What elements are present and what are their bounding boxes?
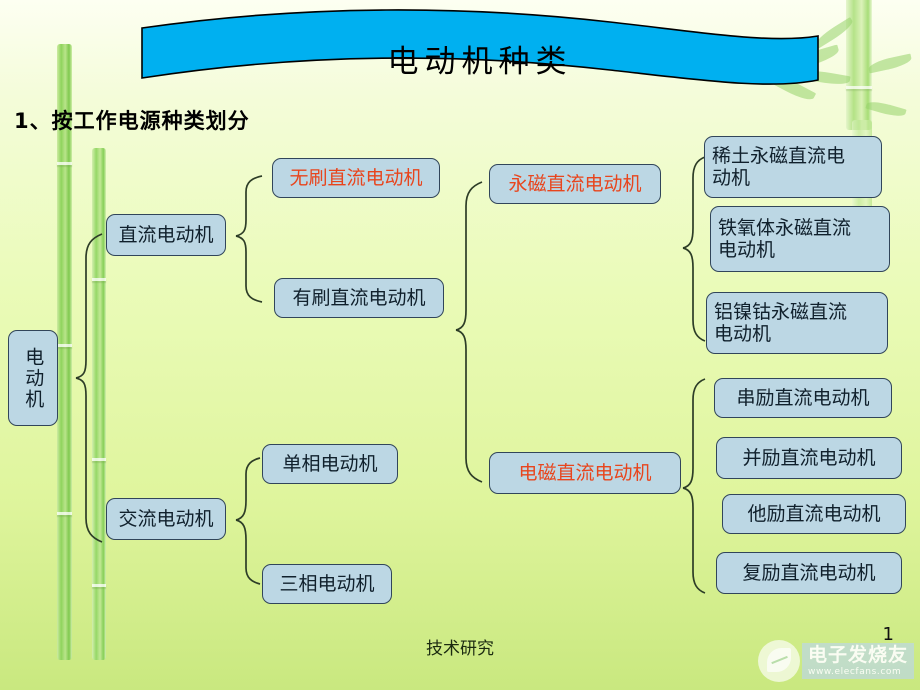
node-label: 串励直流电动机 [736, 387, 869, 409]
title-ribbon: 电动机种类 [140, 8, 820, 108]
node-separately-excited-dc-motor[interactable]: 他励直流电动机 [722, 494, 906, 534]
watermark-text: 电子发烧友 www.elecfans.com [802, 643, 914, 679]
node-label: 并励直流电动机 [742, 447, 875, 469]
node-label: 有刷直流电动机 [292, 287, 425, 309]
node-electromagnetic-dc-motor[interactable]: 电磁直流电动机 [489, 452, 681, 494]
node-label: 电磁直流电动机 [518, 462, 651, 484]
node-series-dc-motor[interactable]: 串励直流电动机 [714, 378, 892, 418]
node-label: 电动机 [22, 347, 44, 410]
node-ferrite-pm-dc-motor[interactable]: 铁氧体永磁直流 电动机 [710, 206, 890, 272]
bamboo-stalk-icon [57, 44, 72, 660]
watermark-leaf-icon [758, 640, 800, 682]
bamboo-leaf-icon [867, 54, 912, 74]
node-brushless-dc-motor[interactable]: 无刷直流电动机 [272, 158, 440, 198]
node-label: 三相电动机 [279, 573, 374, 595]
node-root-motor[interactable]: 电动机 [8, 330, 58, 426]
node-label: 交流电动机 [118, 508, 213, 530]
node-brushed-dc-motor[interactable]: 有刷直流电动机 [274, 278, 444, 318]
node-label: 直流电动机 [118, 224, 213, 246]
node-rare-earth-pm-dc-motor[interactable]: 稀土永磁直流电 动机 [704, 136, 882, 198]
node-compound-dc-motor[interactable]: 复励直流电动机 [716, 552, 902, 594]
node-single-phase-motor[interactable]: 单相电动机 [262, 444, 398, 484]
node-alnico-pm-dc-motor[interactable]: 铝镍钴永磁直流 电动机 [706, 292, 888, 354]
watermark: 电子发烧友 www.elecfans.com [758, 638, 914, 684]
node-label: 无刷直流电动机 [289, 167, 422, 189]
node-label: 他励直流电动机 [747, 503, 880, 525]
node-ac-motor[interactable]: 交流电动机 [106, 498, 226, 540]
slide-canvas: 电动机种类 1、按工作电源种类划分 电动机 直流电动机 交流电动机 无刷直流电动… [0, 0, 920, 690]
watermark-url: www.elecfans.com [808, 667, 908, 677]
node-label: 铁氧体永磁直流 电动机 [718, 217, 851, 262]
watermark-name: 电子发烧友 [808, 646, 908, 665]
node-label: 单相电动机 [282, 453, 377, 475]
node-label: 永磁直流电动机 [508, 173, 641, 195]
node-three-phase-motor[interactable]: 三相电动机 [262, 564, 392, 604]
node-label: 铝镍钴永磁直流 电动机 [714, 301, 847, 346]
node-shunt-dc-motor[interactable]: 并励直流电动机 [716, 437, 902, 479]
node-dc-motor[interactable]: 直流电动机 [106, 214, 226, 256]
slide-subtitle: 1、按工作电源种类划分 [14, 105, 250, 135]
slide-title: 电动机种类 [140, 36, 820, 81]
node-permanent-magnet-dc-motor[interactable]: 永磁直流电动机 [489, 164, 661, 204]
node-label: 复励直流电动机 [742, 562, 875, 584]
bamboo-stalk-icon [92, 148, 106, 660]
node-label: 稀土永磁直流电 动机 [712, 145, 845, 190]
